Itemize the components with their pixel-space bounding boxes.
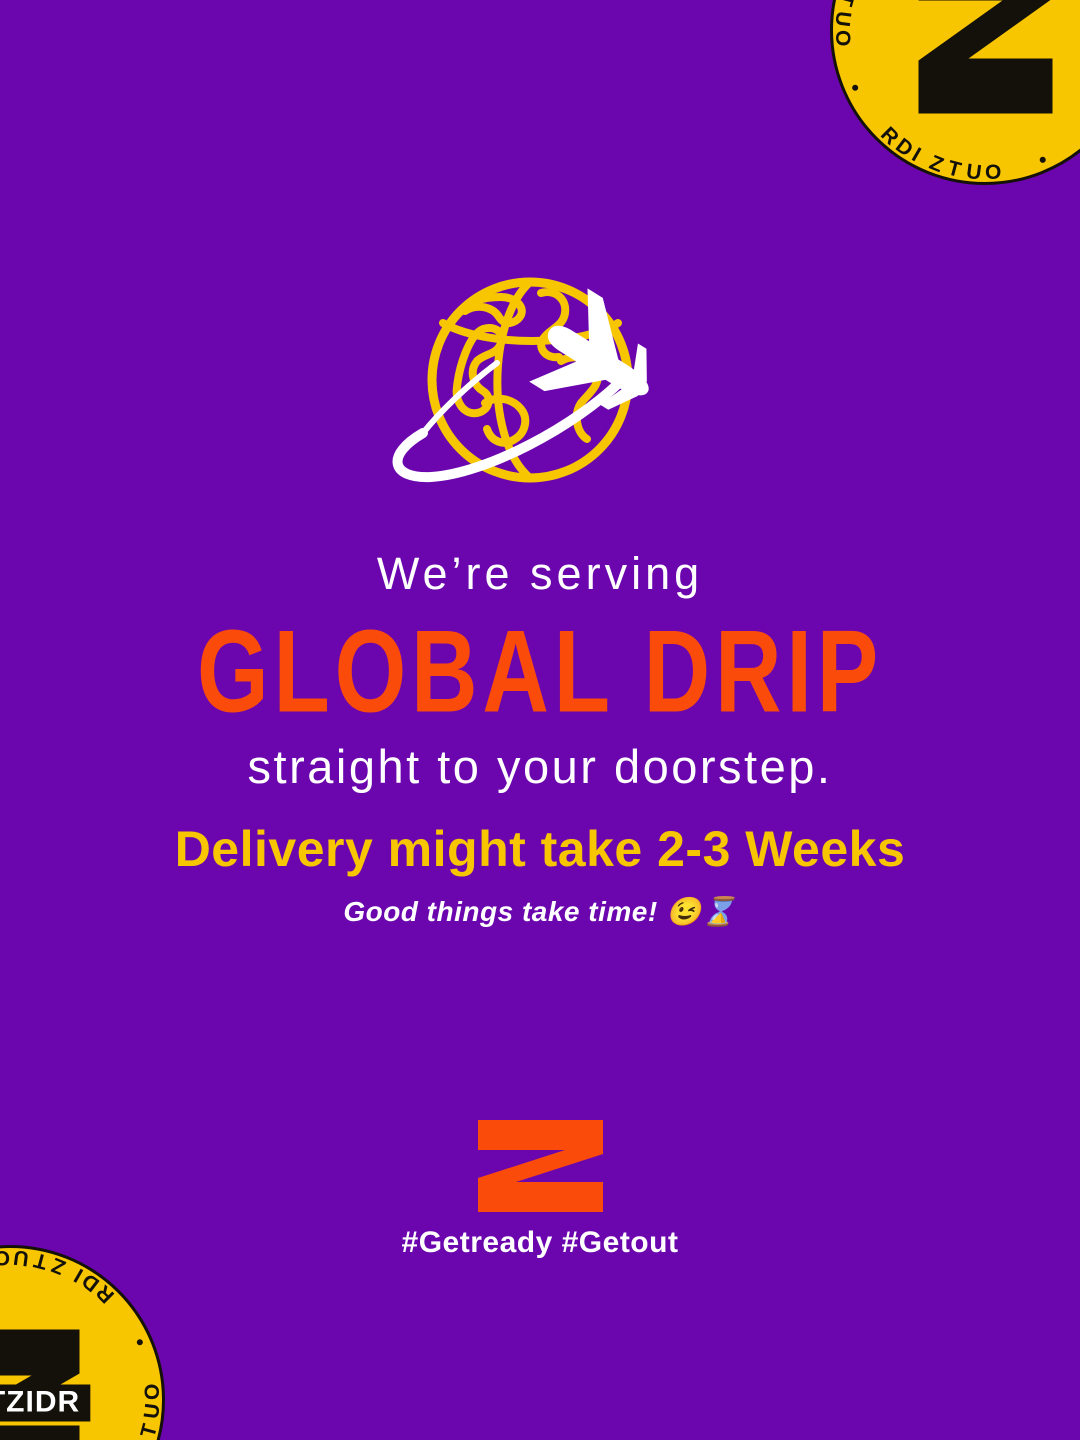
brand-badge-top-right: OUTZIDR•OUTZIDR•OUTZIDR•OUTZIDR• [830,0,1080,185]
z-logo-icon [0,1325,85,1440]
brand-badge-bottom-left: OUTZIDR•OUTZIDR•OUTZIDR•OUTZIDR• OUTZIDR [0,1245,165,1440]
hero-eyebrow: We’re serving [0,548,1080,600]
badge-wordmark: OUTZIDR [0,1385,90,1422]
badge-core-top [878,0,1080,138]
z-logo-icon [910,0,1060,118]
delivery-tagline: Good things take time! 😉⌛ [0,895,1080,928]
footer-block: #Getready #Getout [0,1120,1080,1260]
hero-subline: straight to your doorstep. [0,740,1080,794]
delivery-notice-block: Delivery might take 2-3 Weeks Good thing… [0,822,1080,928]
footer-hashtags: #Getready #Getout [402,1226,679,1260]
hero-copy-block: We’re serving GLOBAL DRIP straight to yo… [0,548,1080,794]
globe-airplane-illustration [0,275,1080,500]
hero-headline: GLOBAL DRIP [22,614,1059,731]
badge-core-bottom: OUTZIDR [0,1293,118,1440]
poster-canvas: OUTZIDR•OUTZIDR•OUTZIDR•OUTZIDR• OUTZIDR… [0,0,1080,1440]
z-logo-icon [478,1120,603,1212]
delivery-headline: Delivery might take 2-3 Weeks [0,822,1080,877]
